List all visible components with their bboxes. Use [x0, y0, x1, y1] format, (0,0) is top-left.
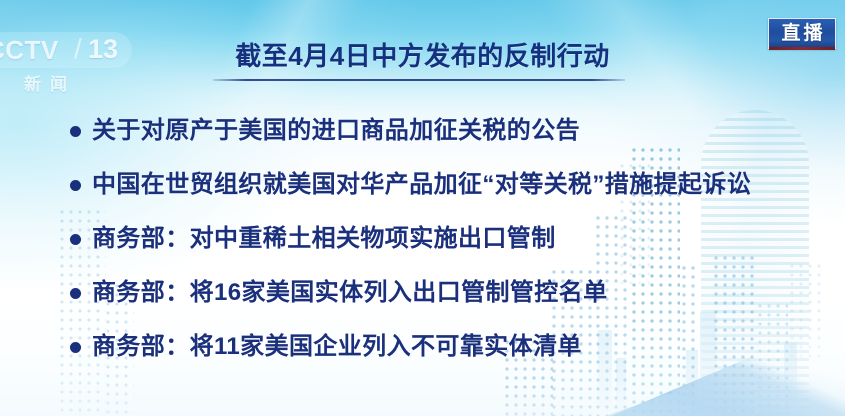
- counter-measures-list: 关于对原产于美国的进口商品加征关税的公告 中国在世贸组织就美国对华产品加征“对等…: [70, 104, 830, 374]
- broadcast-lower-third: CCTV / 13 新闻 直播 截至4月4日中方发布的反制行动 关于对原产于美国…: [0, 0, 845, 416]
- headline-underline-rule: [213, 79, 625, 81]
- bullet-dot-icon: [70, 234, 81, 245]
- list-item: 商务部：将16家美国实体列入出口管制管控名单: [70, 266, 830, 320]
- list-item-label: 商务部：将16家美国实体列入出口管制管控名单: [92, 279, 608, 307]
- list-item: 关于对原产于美国的进口商品加征关税的公告: [70, 104, 830, 158]
- list-item-label: 商务部：将11家美国企业列入不可靠实体清单: [92, 333, 582, 361]
- cctv-subtitle-news: 新闻: [24, 70, 76, 95]
- headline-title: 截至4月4日中方发布的反制行动: [0, 42, 845, 71]
- list-item-label: 商务部：对中重稀土相关物项实施出口管制: [92, 225, 556, 253]
- list-item: 中国在世贸组织就美国对华产品加征“对等关税”措施提起诉讼: [70, 158, 830, 212]
- headline-block: 截至4月4日中方发布的反制行动: [0, 42, 845, 71]
- list-item: 商务部：对中重稀土相关物项实施出口管制: [70, 212, 830, 266]
- live-badge-label: 直播: [778, 24, 825, 43]
- bullet-dot-icon: [70, 126, 81, 137]
- bullet-dot-icon: [70, 342, 81, 353]
- bullet-dot-icon: [70, 180, 81, 191]
- bullet-dot-icon: [70, 288, 81, 299]
- list-item: 商务部：将11家美国企业列入不可靠实体清单: [70, 320, 830, 374]
- list-item-label: 关于对原产于美国的进口商品加征关税的公告: [92, 117, 580, 145]
- list-item-label: 中国在世贸组织就美国对华产品加征“对等关税”措施提起诉讼: [92, 171, 751, 199]
